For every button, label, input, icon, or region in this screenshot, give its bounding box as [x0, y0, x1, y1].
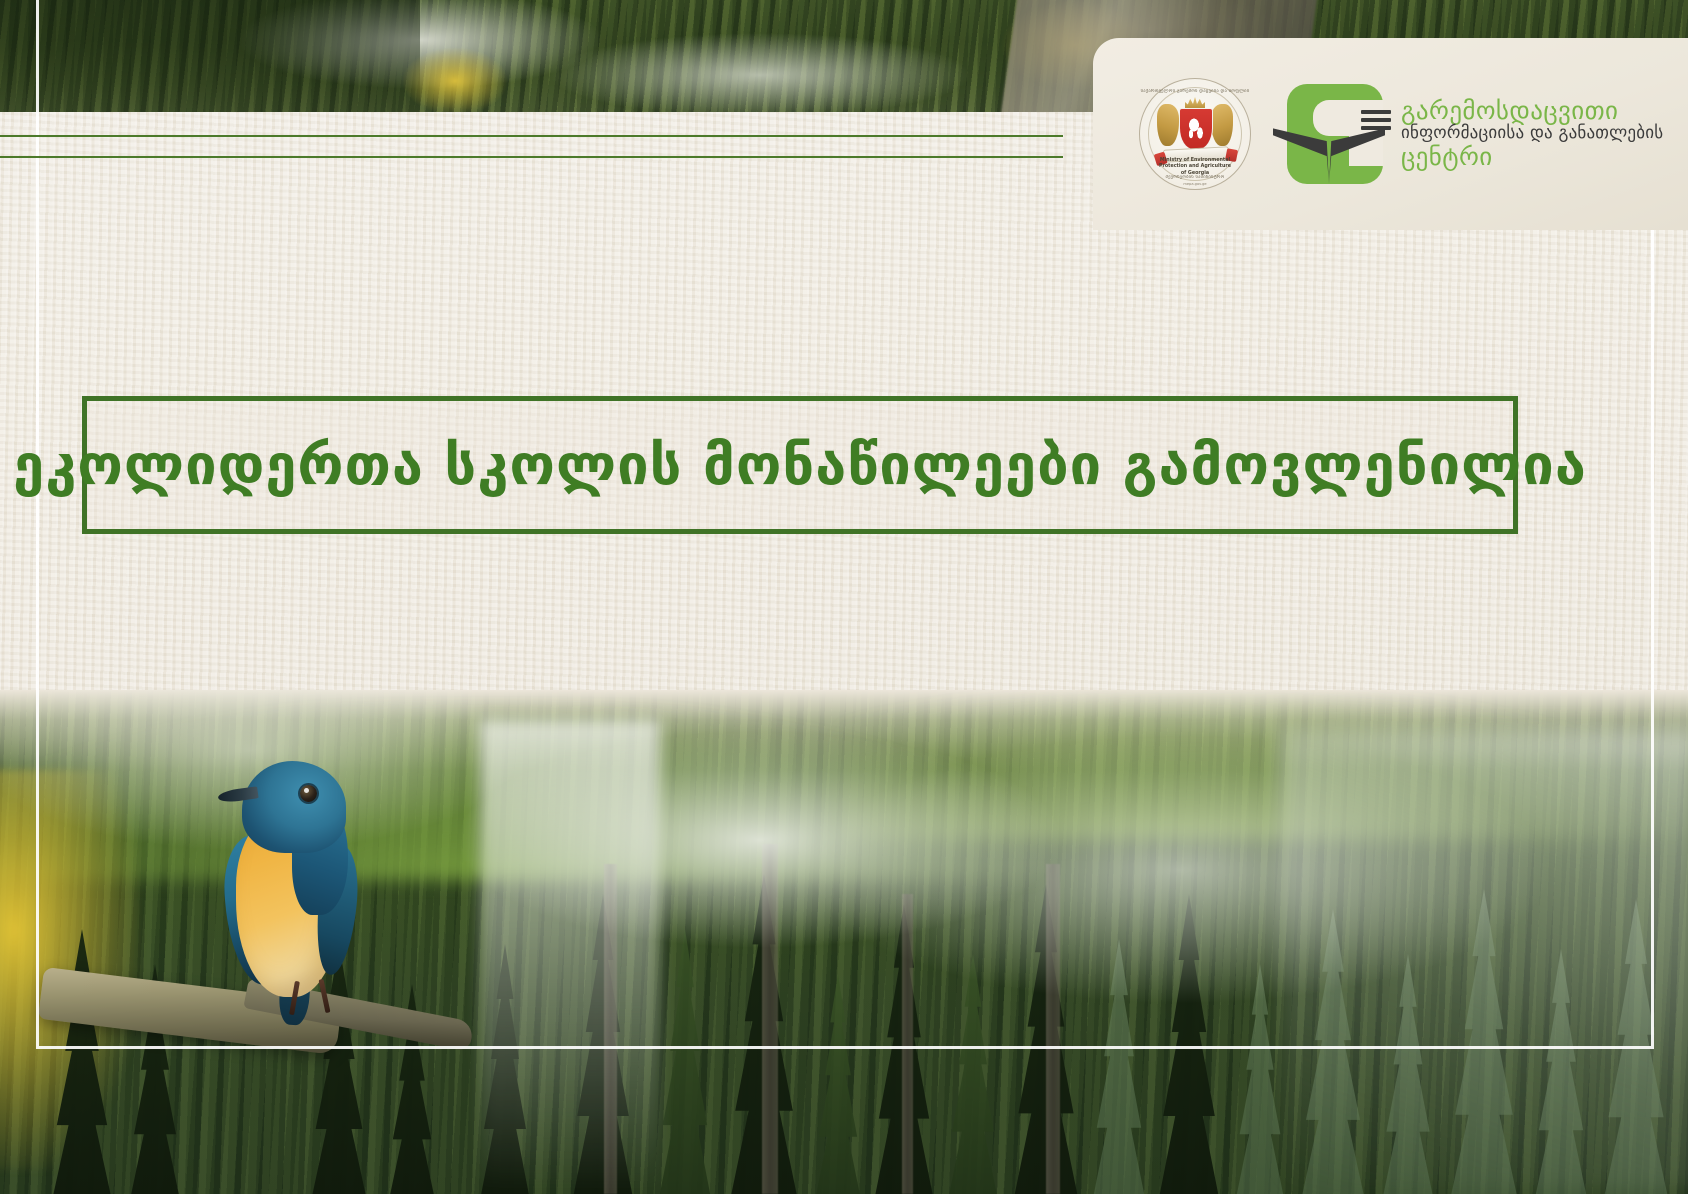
eiec-text-line-3: ცენტრი: [1401, 144, 1663, 170]
bird-illustration: [196, 755, 386, 1020]
eiec-logo-mark-icon: [1287, 84, 1383, 184]
banner-canvas: საქართველოს გარემოს დაცვისა და სოფლის Mi…: [0, 0, 1688, 1194]
seal-lion-right: [1211, 104, 1233, 146]
top-photo-dark-ridge: [0, 0, 420, 120]
seal-arc-text-top: საქართველოს გარემოს დაცვისა და სოფლის: [1139, 89, 1251, 94]
page-title: ეკოლიდერთა სკოლის მონაწილეები გამოვლენილ…: [13, 433, 1587, 498]
bird-head: [242, 761, 346, 853]
logo-panel: საქართველოს გარემოს დაცვისა და სოფლის Mi…: [1093, 38, 1688, 230]
seal-arc-text-bottom: მეურნეობის სამინისტრო: [1139, 175, 1251, 180]
eiec-logo-text: გარემოსდაცვითი ინფორმაციისა და განათლები…: [1401, 98, 1663, 171]
bird-leg-right: [319, 979, 331, 1013]
eiec-text-line-1: გარემოსდაცვითი: [1401, 98, 1663, 124]
forest-fog-right: [1280, 730, 1688, 1190]
frame-left-extension: [36, 0, 39, 120]
eiec-line-marks: [1361, 110, 1391, 130]
seal-shield: [1179, 108, 1213, 150]
ministry-seal: საქართველოს გარემოს დაცვისა და სოფლის Mi…: [1139, 78, 1251, 190]
green-rule-lower: [0, 156, 1063, 158]
bird-eye: [300, 785, 317, 802]
green-rule-upper: [0, 135, 1063, 137]
title-box: ეკოლიდერთა სკოლის მონაწილეები გამოვლენილ…: [82, 396, 1518, 534]
saint-george-horse-icon: [1186, 116, 1206, 140]
top-photo-yellow-foliage: [400, 46, 510, 116]
seal-url-text: mepa.gov.ge: [1139, 182, 1251, 186]
eiec-text-line-2: ინფორმაციისა და განათლების: [1401, 123, 1663, 144]
eiec-logo: გარემოსდაცვითი ინფორმაციისა და განათლები…: [1287, 84, 1663, 184]
forest-fog-column: [480, 720, 660, 1190]
